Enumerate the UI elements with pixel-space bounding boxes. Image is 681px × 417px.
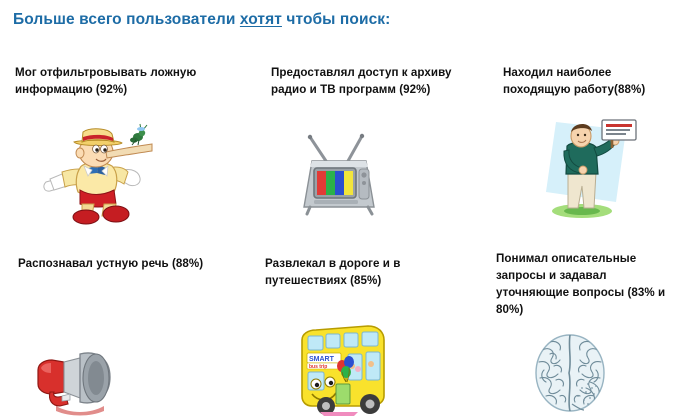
list-item: Понимал описательные запросы и задавал у… <box>496 250 681 318</box>
job-seeker-icon <box>520 116 640 222</box>
pinocchio-icon <box>40 124 160 224</box>
title-text-after: чтобы поиск: <box>282 11 390 28</box>
title-text-emphasis: хотят <box>240 11 282 28</box>
list-item: Предоставлял доступ к архиву радио и ТВ … <box>271 64 471 98</box>
double-decker-bus-icon: SMART bus trip <box>296 322 388 417</box>
item-caption-1: Мог отфильтровывать ложную информацию (9… <box>15 64 230 98</box>
title-text-before: Больше всего пользователи <box>13 11 240 28</box>
page-title: Больше всего пользователи хотят чтобы по… <box>13 11 390 29</box>
slide-canvas: Больше всего пользователи хотят чтобы по… <box>0 0 681 417</box>
item-caption-5: Развлекал в дороге и в путешествиях (85%… <box>265 255 465 289</box>
item-caption-4: Распознавал устную речь (88%) <box>18 255 218 272</box>
item-caption-3: Находил наиболее походящую работу(88%) <box>503 64 681 98</box>
list-item: Находил наиболее походящую работу(88%) <box>503 64 681 98</box>
item-caption-6: Понимал описательные запросы и задавал у… <box>496 250 681 318</box>
megaphone-icon <box>34 348 114 417</box>
svg-text:SMART: SMART <box>309 356 335 363</box>
list-item: Развлекал в дороге и в путешествиях (85%… <box>265 255 465 289</box>
list-item: Распознавал устную речь (88%) <box>18 255 218 272</box>
television-icon <box>296 133 382 217</box>
list-item: Мог отфильтровывать ложную информацию (9… <box>15 64 230 98</box>
svg-text:bus trip: bus trip <box>309 364 327 370</box>
item-caption-2: Предоставлял доступ к архиву радио и ТВ … <box>271 64 471 98</box>
brain-icon <box>530 330 610 417</box>
